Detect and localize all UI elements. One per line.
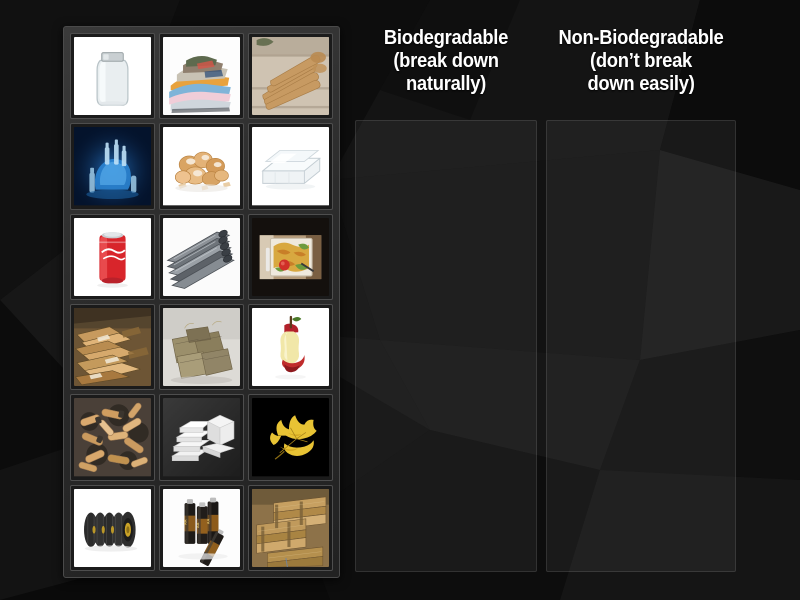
tile-plastic-bottles-bag[interactable] [70,123,155,209]
wooden-pallets-image [252,489,329,567]
cardboard-pile-image [74,308,151,386]
drop-zone-non-biodegradable[interactable] [546,120,736,572]
tile-wooden-pallets[interactable] [248,485,333,571]
styrofoam-containers-image [163,398,240,476]
food-leftovers-image [252,218,329,296]
svg-text:AA: AA [195,522,200,528]
tile-tires[interactable] [70,485,155,571]
zone-title-line-2: (break down [362,50,529,73]
tile-batteries[interactable]: AA AA AA [159,485,244,571]
plastic-bottles-bag-image [74,127,151,205]
tile-metal-pipes[interactable] [159,214,244,300]
tile-food-leftovers[interactable] [248,214,333,300]
tile-fabric-clothes[interactable] [159,33,244,119]
batteries-image: AA AA AA [163,489,240,567]
cigarette-butts-image [74,398,151,476]
eggshells-image [163,127,240,205]
wooden-utensils-image [252,37,329,115]
apple-core-image [252,308,329,386]
tile-plastic-container[interactable] [248,123,333,209]
metal-pipes-image [163,218,240,296]
activity-stage: AA AA AA [0,0,800,600]
plastic-container-image [252,127,329,205]
tile-apple-core[interactable] [248,304,333,390]
fabric-clothes-image [163,37,240,115]
tea-bags-image [163,308,240,386]
zone-title-line-1: Non-Biodegradable [554,27,729,50]
tile-eggshells[interactable] [159,123,244,209]
zone-title-line-3: naturally) [362,73,529,96]
tile-tea-bags[interactable] [159,304,244,390]
zone-title-line-2: (don’t break [554,50,729,73]
drop-zone-biodegradable[interactable] [355,120,537,572]
yellow-leaf-image [252,398,329,476]
zone-title-non-biodegradable: Non-Biodegradable (don’t break down easi… [554,27,729,96]
svg-text:AA: AA [206,518,211,524]
image-tile-panel: AA AA AA [63,26,340,578]
glass-jar-image [74,37,151,115]
tile-soda-can[interactable] [70,214,155,300]
tile-cigarette-butts[interactable] [70,394,155,480]
tile-yellow-leaf[interactable] [248,394,333,480]
zone-title-line-3: down easily) [554,73,729,96]
zone-title-line-1: Biodegradable [362,27,529,50]
image-tile-grid: AA AA AA [70,33,333,571]
svg-text:AA: AA [183,519,188,525]
soda-can-image [74,218,151,296]
tile-wooden-utensils[interactable] [248,33,333,119]
tile-styrofoam-containers[interactable] [159,394,244,480]
tile-glass-jar[interactable] [70,33,155,119]
zone-title-biodegradable: Biodegradable (break down naturally) [362,27,529,96]
tires-image [74,489,151,567]
tile-cardboard-pile[interactable] [70,304,155,390]
